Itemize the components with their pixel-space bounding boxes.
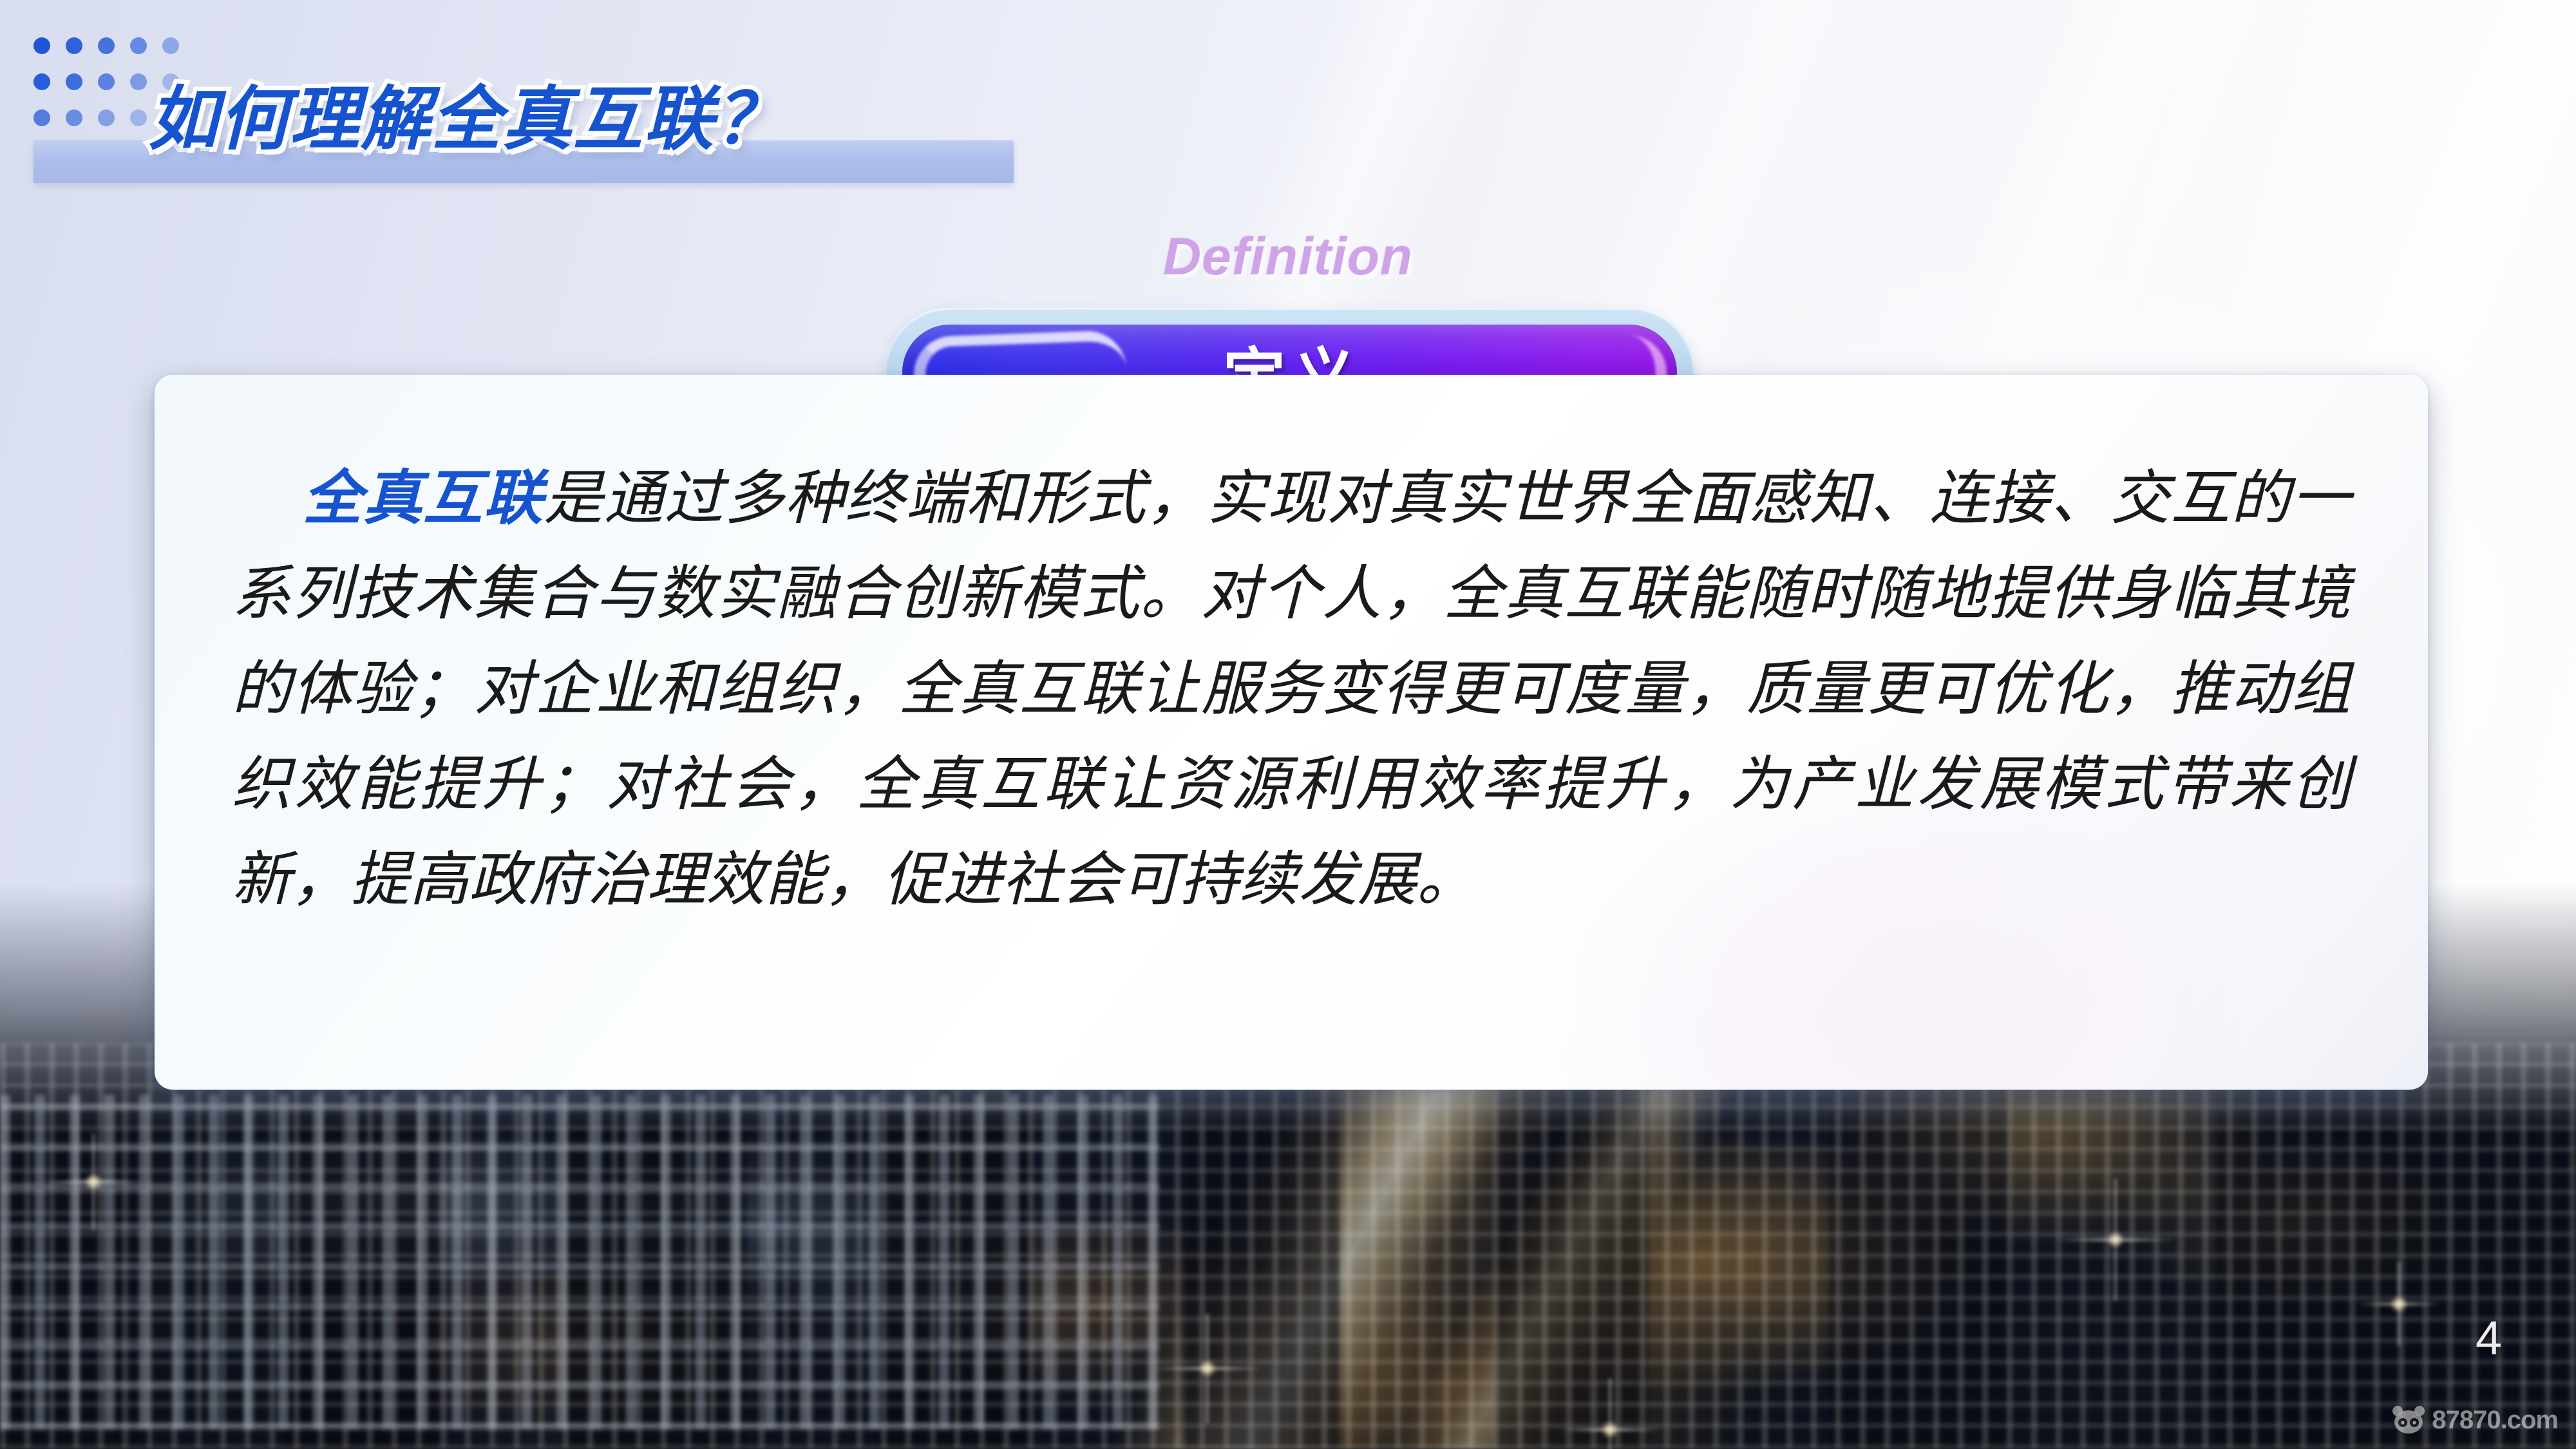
dot-icon (66, 37, 82, 54)
definition-paragraph: 全真互联是通过多种终端和形式，实现对真实世界全面感知、连接、交互的一系列技术集合… (232, 451, 2351, 927)
keyword-highlight: 全真互联 (303, 466, 544, 531)
dot-icon (66, 109, 82, 126)
section-english-label: Definition (0, 227, 2576, 287)
dot-icon (98, 73, 115, 90)
page-number: 4 (2476, 1311, 2502, 1365)
panda-logo-icon (2392, 1405, 2425, 1435)
watermark: 87870.com (2392, 1405, 2558, 1435)
dot-icon (66, 73, 82, 90)
dot-icon (130, 37, 147, 54)
definition-card-body: 全真互联是通过多种终端和形式，实现对真实世界全面感知、连接、交互的一系列技术集合… (155, 375, 2428, 1090)
dot-icon (162, 37, 179, 54)
dot-icon (33, 37, 50, 54)
dot-icon (98, 37, 115, 54)
slide-root: 如何理解全真互联？ Definition 定义 全真互联是通过多种终端和形式，实… (0, 0, 2576, 1449)
dot-icon (98, 109, 115, 126)
dot-icon (33, 73, 50, 90)
dot-icon (33, 109, 50, 126)
watermark-text: 87870.com (2432, 1406, 2558, 1435)
definition-body-text: 是通过多种终端和形式，实现对真实世界全面感知、连接、交互的一系列技术集合与数实融… (232, 466, 2351, 913)
definition-card: 全真互联是通过多种终端和形式，实现对真实世界全面感知、连接、交互的一系列技术集合… (155, 375, 2428, 1090)
dot-icon (130, 109, 147, 126)
page-title: 如何理解全真互联？ (148, 63, 786, 164)
dot-icon (130, 73, 147, 90)
